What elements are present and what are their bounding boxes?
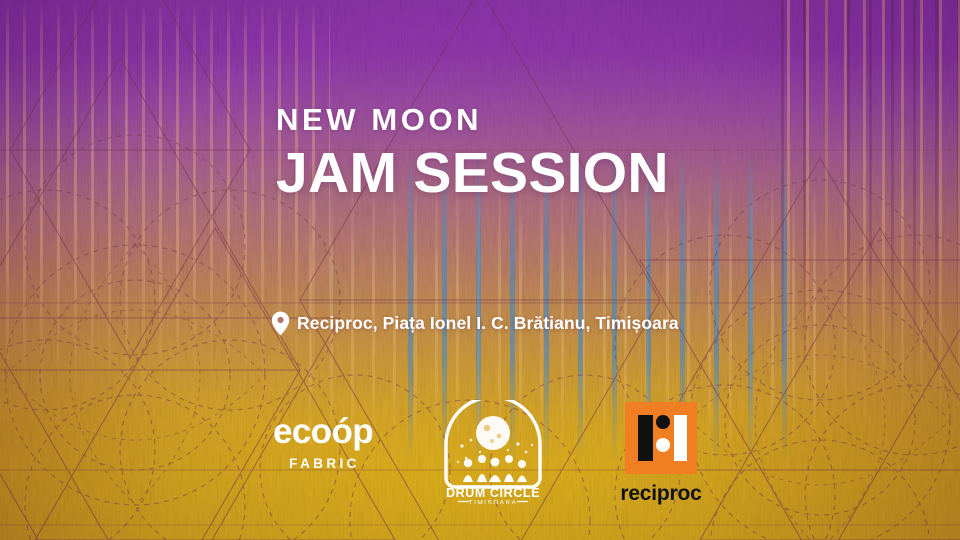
- poster-kicker: NEW MOON: [276, 104, 669, 135]
- poster-title: JAM SESSION: [276, 145, 669, 202]
- map-pin-icon: [271, 311, 290, 336]
- logo-ecoop: ecoóp FABRIC: [258, 414, 388, 471]
- logo-reciproc: reciproc: [606, 402, 716, 504]
- logo-drum-circle-sub: TIMIȘOARA: [469, 500, 518, 505]
- venue-row: Reciproc, Piața Ionel I. C. Brătianu, Ti…: [271, 311, 679, 336]
- venue-text: Reciproc, Piața Ionel I. C. Brătianu, Ti…: [297, 313, 679, 334]
- reciproc-black-bar: [638, 415, 653, 461]
- reciproc-white-bar: [674, 415, 687, 461]
- headline-block: NEW MOON JAM SESSION: [276, 104, 669, 202]
- logo-drum-circle: DRUM CIRCLE TIMIȘOARA: [438, 400, 548, 509]
- logo-drum-circle-word: DRUM CIRCLE: [446, 486, 540, 500]
- poster-content: NEW MOON JAM SESSION Reciproc, Piața Ion…: [0, 0, 960, 540]
- event-poster: NEW MOON JAM SESSION Reciproc, Piața Ion…: [0, 0, 960, 540]
- reciproc-mark-icon: [625, 402, 697, 474]
- partner-logo-row: ecoóp FABRIC: [248, 392, 728, 507]
- logo-ecoop-word: ecoóp: [258, 414, 388, 449]
- reciproc-black-dot: [656, 415, 670, 429]
- logo-reciproc-word: reciproc: [606, 483, 716, 504]
- logo-ecoop-sub: FABRIC: [258, 457, 388, 471]
- drum-circle-badge-icon: DRUM CIRCLE TIMIȘOARA: [438, 400, 548, 504]
- reciproc-white-dot: [656, 438, 670, 452]
